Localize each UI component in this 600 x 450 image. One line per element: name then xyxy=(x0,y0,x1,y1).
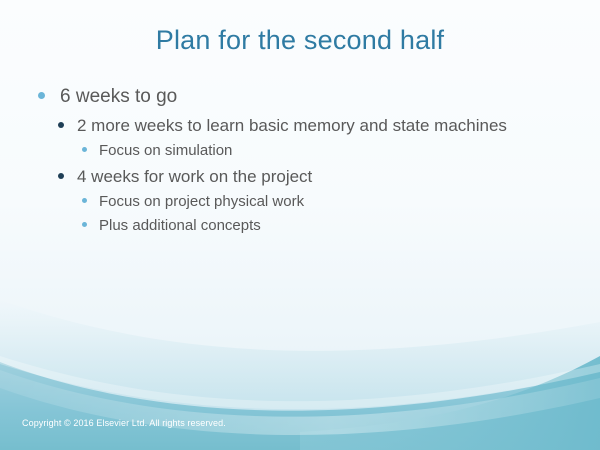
bullet-dot-icon xyxy=(58,173,64,179)
list-item: Plus additional concepts xyxy=(0,214,600,238)
list-item-label: Focus on project physical work xyxy=(99,190,600,214)
bullet-dot-icon xyxy=(82,198,87,203)
presentation-slide: Plan for the second half 6 weeks to go 2… xyxy=(0,0,600,450)
list-item: Focus on project physical work xyxy=(0,190,600,214)
bullet-dot-icon xyxy=(82,147,87,152)
list-item: Focus on simulation xyxy=(0,139,600,163)
list-item-label: 4 weeks for work on the project xyxy=(77,163,600,190)
copyright-notice: Copyright © 2016 Elsevier Ltd. All right… xyxy=(22,418,226,428)
list-item-label: Plus additional concepts xyxy=(99,214,600,238)
list-item-label: Focus on simulation xyxy=(99,139,600,163)
bullet-dot-icon xyxy=(58,122,64,128)
list-item: 2 more weeks to learn basic memory and s… xyxy=(0,112,600,139)
slide-body-list: 6 weeks to go 2 more weeks to learn basi… xyxy=(0,82,600,238)
slide-title: Plan for the second half xyxy=(0,24,600,56)
list-item: 6 weeks to go xyxy=(0,82,600,112)
list-item-label: 2 more weeks to learn basic memory and s… xyxy=(77,112,600,139)
list-item-label: 6 weeks to go xyxy=(60,82,600,112)
bullet-dot-icon xyxy=(38,92,45,99)
list-item: 4 weeks for work on the project xyxy=(0,163,600,190)
bullet-dot-icon xyxy=(82,222,87,227)
